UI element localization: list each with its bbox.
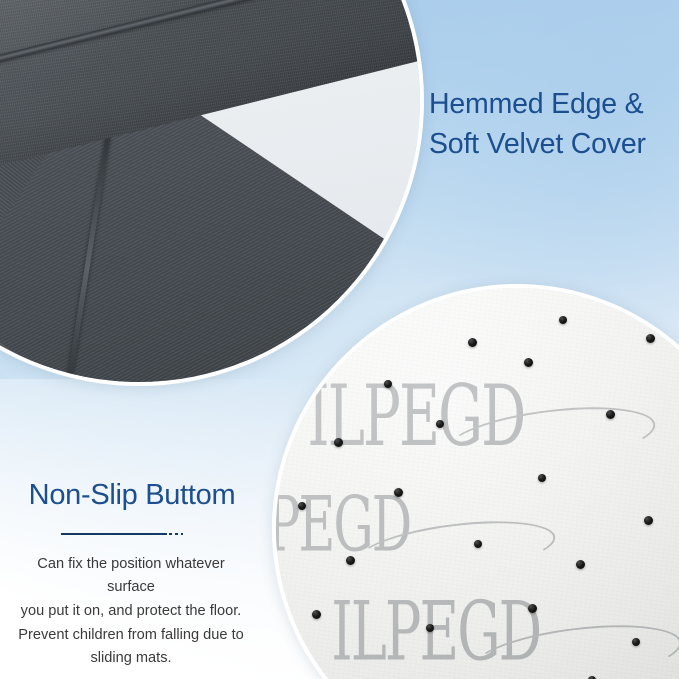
headline-line-2: Soft Velvet Cover — [429, 124, 679, 164]
grip-dot — [528, 604, 537, 613]
grip-dot — [559, 316, 567, 324]
grip-dot — [394, 488, 403, 497]
feature-panel-body: Can fix the position whatever surface yo… — [0, 553, 262, 671]
headline-hemmed-edge: Hemmed Edge & Soft Velvet Cover — [429, 84, 679, 165]
photo-circle-nonslip-backing: ILPEGD ILPEGD ILPEGD — [272, 284, 679, 679]
grip-dot-layer — [276, 288, 679, 679]
grip-dot — [606, 410, 615, 419]
feature-panel-nonslip: Non-Slip Buttom Can fix the position wha… — [0, 478, 262, 671]
divider-line — [61, 533, 167, 535]
headline-line-1: Hemmed Edge & — [429, 88, 643, 120]
grip-dot — [334, 438, 343, 447]
body-line-1: Can fix the position whatever surface — [14, 553, 248, 600]
grip-dot — [632, 638, 640, 646]
grip-dot — [474, 540, 482, 548]
grip-dot — [312, 610, 321, 619]
grip-dot — [538, 474, 546, 482]
body-line-3: Prevent children from falling due to — [14, 624, 248, 648]
grip-dot — [346, 556, 355, 565]
feature-panel-title: Non-Slip Buttom — [2, 478, 262, 513]
grip-dot — [384, 380, 392, 388]
grip-dot — [646, 334, 655, 343]
grip-dot — [436, 420, 444, 428]
nonslip-mat-photo: ILPEGD ILPEGD ILPEGD — [276, 288, 679, 679]
title-divider — [0, 525, 262, 543]
grip-dot — [576, 560, 585, 569]
body-line-4: sliding mats. — [14, 647, 248, 671]
grip-dot — [298, 502, 306, 510]
grip-dot — [644, 516, 653, 525]
grip-dot — [426, 624, 434, 632]
grip-dot — [524, 358, 533, 367]
divider-dotted-tail — [169, 533, 183, 535]
body-line-2: you put it on, and protect the floor. — [14, 600, 248, 624]
grip-dot — [468, 338, 477, 347]
